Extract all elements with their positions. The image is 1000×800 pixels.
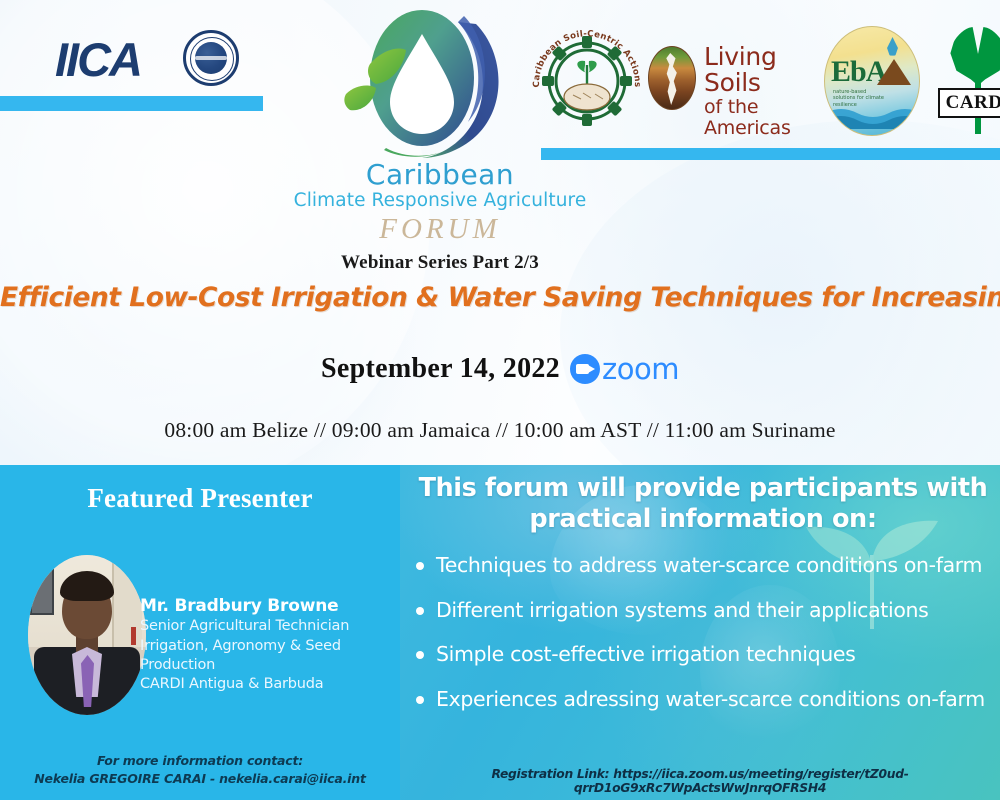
contact-label: For more information contact: — [0, 752, 400, 770]
list-item: Techniques to address water-scarce condi… — [416, 553, 1000, 578]
eba-waves-icon — [825, 103, 920, 129]
iica-logo: IICA — [55, 28, 240, 90]
presenter-details: Mr. Bradbury Browne Senior Agricultural … — [140, 596, 390, 694]
registration-link[interactable]: Registration Link: https://iica.zoom.us/… — [400, 767, 1000, 795]
presenter-name: Mr. Bradbury Browne — [140, 596, 390, 617]
header-section: IICA — [0, 0, 1000, 465]
cardi-wordmark: CARDI — [938, 88, 1000, 118]
contact-info: For more information contact: Nekelia GR… — [0, 752, 400, 788]
gear-plant-icon: Caribbean Soil-Centric Actions — [528, 24, 646, 138]
caribbean-soil-centric-actions-logo: Caribbean Soil-Centric Actions — [528, 24, 646, 138]
avatar-red-detail — [131, 627, 136, 645]
living-soils-wordmark: Living Soils of the Americas — [704, 44, 818, 140]
list-item-label: Techniques to address water-scarce condi… — [436, 553, 982, 578]
living-soils-badge-icon — [648, 46, 696, 110]
ccraf-line-climate: Climate Responsive Agriculture — [290, 190, 590, 211]
bullet-icon — [416, 696, 424, 704]
timezone-list: 08:00 am Belize // 09:00 am Jamaica // 1… — [0, 418, 1000, 443]
flyer-canvas: IICA — [0, 0, 1000, 800]
bullet-icon — [416, 562, 424, 570]
zoom-wordmark: zoom — [602, 352, 679, 386]
cardi-logo: CARDI — [932, 26, 1000, 138]
list-item-label: Experiences adressing water-scarce condi… — [436, 687, 985, 712]
ccraf-line-forum: FORUM — [290, 214, 590, 246]
featured-presenter-heading: Featured Presenter — [0, 483, 400, 514]
cardi-leaf-icon — [948, 26, 1000, 88]
eba-droplet-icon — [886, 37, 899, 56]
forum-heading: This forum will provide participants wit… — [414, 473, 992, 535]
forum-bullet-list: Techniques to address water-scarce condi… — [416, 553, 1000, 731]
webinar-series-label: Webinar Series Part 2/3 — [290, 252, 590, 274]
living-soils-logo: Living Soils of the Americas — [648, 42, 818, 118]
video-camera-icon — [570, 354, 600, 384]
list-item-label: Simple cost-effective irrigation techniq… — [436, 642, 855, 667]
event-date: September 14, 2022 — [321, 353, 560, 385]
contact-person[interactable]: Nekelia GREGOIRE CARAI - nekelia.carai@i… — [0, 770, 400, 788]
ccraf-wordmark: Caribbean Climate Responsive Agriculture… — [290, 160, 590, 274]
presenter-avatar — [28, 555, 146, 715]
iica-globe-icon — [183, 30, 239, 86]
bullet-icon — [416, 651, 424, 659]
accent-bar-left — [0, 96, 263, 111]
page-title: Efficient Low-Cost Irrigation & Water Sa… — [0, 282, 1000, 313]
eba-logo: EbA nature-based solutions for climate r… — [824, 26, 920, 136]
partner-logos: Caribbean Soil-Centric Actions Living So… — [528, 22, 994, 140]
avatar-wall-frame — [30, 569, 54, 615]
accent-bar-right — [541, 148, 1000, 160]
eba-mountain-icon — [877, 59, 911, 85]
zoom-logo: zoom — [570, 352, 679, 386]
presenter-title-line-2: Irrigation, Agronomy & Seed Production — [140, 637, 390, 676]
list-item-label: Different irrigation systems and their a… — [436, 598, 929, 623]
date-row: September 14, 2022 zoom — [0, 352, 1000, 386]
iica-wordmark: IICA — [55, 32, 141, 87]
iica-globe-ring — [190, 37, 234, 81]
list-item: Different irrigation systems and their a… — [416, 598, 1000, 623]
list-item: Experiences adressing water-scarce condi… — [416, 687, 1000, 712]
presenter-title-line-1: Senior Agricultural Technician — [140, 617, 390, 636]
eba-oval-badge: EbA nature-based solutions for climate r… — [824, 26, 920, 136]
forum-info-panel: This forum will provide participants wit… — [400, 465, 1000, 800]
presenter-title-line-3: CARDI Antigua & Barbuda — [140, 675, 390, 694]
living-soils-line1: Living Soils — [704, 44, 818, 97]
bullet-icon — [416, 607, 424, 615]
living-soils-line2: of the Americas — [704, 97, 818, 141]
avatar-door — [112, 563, 142, 647]
list-item: Simple cost-effective irrigation techniq… — [416, 642, 1000, 667]
water-droplet-leaf-icon — [326, 8, 516, 163]
ccraf-line-caribbean: Caribbean — [290, 160, 590, 189]
